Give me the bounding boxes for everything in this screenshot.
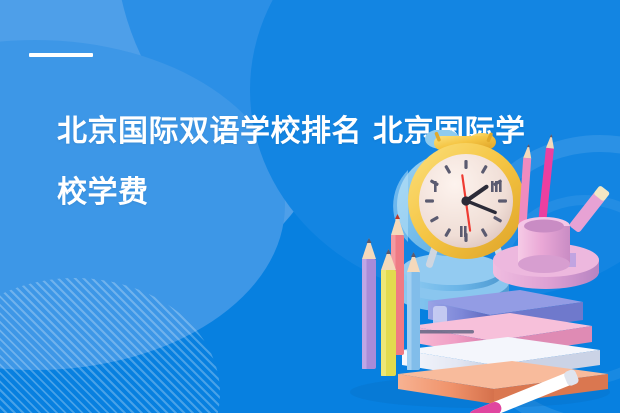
book-stack: [398, 290, 608, 404]
pencil-cup: [518, 217, 570, 273]
pencil-purple: [362, 238, 376, 369]
eraser-stick: [569, 185, 611, 233]
pencil-lightblue: [407, 252, 420, 370]
pencil-yellow: [381, 249, 396, 376]
pen-on-book: [418, 330, 474, 334]
accent-rule: [29, 53, 93, 57]
banner-root: 北京国际双语学校排名 北京国际学校学费: [0, 0, 620, 413]
study-desk-illustration: [330, 130, 620, 413]
clock-center-pin: [461, 196, 470, 205]
cup-pencil-magenta: [538, 134, 555, 224]
